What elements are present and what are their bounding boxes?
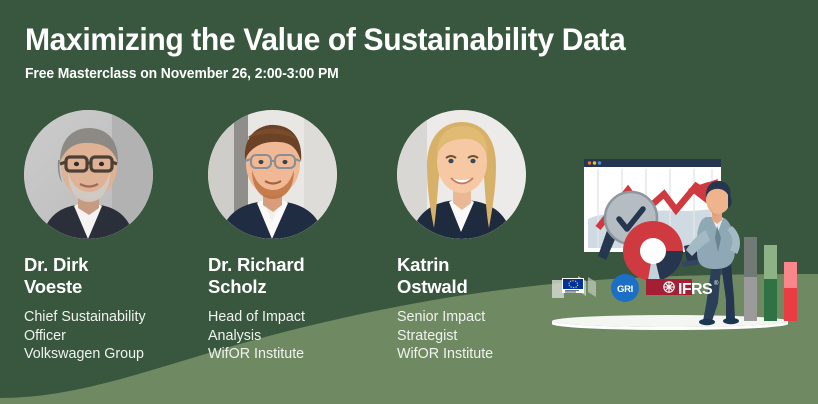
speaker-name: Katrin Ostwald: [397, 254, 547, 298]
speaker-name-line2: Scholz: [208, 276, 358, 298]
speaker-role-line1: Head of Impact: [208, 308, 373, 327]
page-subtitle: Free Masterclass on November 26, 2:00-3:…: [25, 66, 339, 82]
avatar: [24, 110, 153, 239]
eu-commission-logo: [552, 274, 606, 302]
speaker-role-line1: Chief Sustainability: [24, 308, 189, 327]
speaker-role-line3: WifOR Institute: [208, 345, 373, 364]
bar-chart-three-bars: [744, 237, 797, 321]
speaker-role-line2: Officer: [24, 327, 189, 346]
speaker-role: Senior Impact Strategist WifOR Institute: [397, 308, 562, 365]
ifrs-logo: IFRS ®: [646, 274, 720, 299]
data-analytics-illustration: [540, 140, 818, 340]
avatar: [208, 110, 337, 239]
svg-text:IFRS: IFRS: [678, 281, 713, 298]
speaker-role-line2: Strategist: [397, 327, 562, 346]
gri-logo: GRI: [611, 274, 639, 302]
speaker-name: Dr. Dirk Voeste: [24, 254, 174, 298]
svg-text:®: ®: [714, 280, 719, 287]
speaker-role-line3: Volkswagen Group: [24, 345, 189, 364]
speaker-role: Head of Impact Analysis WifOR Institute: [208, 308, 373, 365]
speaker-card-1: Dr. Dirk Voeste Chief Sustainability Off…: [24, 110, 189, 364]
speaker-name-line1: Dr. Richard: [208, 254, 358, 276]
speaker-card-2: Dr. Richard Scholz Head of Impact Analys…: [208, 110, 373, 364]
avatar: [397, 110, 526, 239]
speaker-role: Chief Sustainability Officer Volkswagen …: [24, 308, 189, 365]
speaker-card-3: Katrin Ostwald Senior Impact Strategist …: [397, 110, 562, 364]
speaker-name-line2: Voeste: [24, 276, 174, 298]
page-title: Maximizing the Value of Sustainability D…: [25, 22, 760, 57]
speaker-name-line2: Ostwald: [397, 276, 547, 298]
speaker-name: Dr. Richard Scholz: [208, 254, 358, 298]
speaker-name-line1: Dr. Dirk: [24, 254, 174, 276]
svg-text:GRI: GRI: [617, 284, 633, 295]
speaker-name-line1: Katrin: [397, 254, 547, 276]
speaker-role-line3: WifOR Institute: [397, 345, 562, 364]
donut-chart: [623, 221, 683, 281]
webinar-banner: Maximizing the Value of Sustainability D…: [0, 0, 818, 404]
speaker-role-line1: Senior Impact: [397, 308, 562, 327]
speaker-role-line2: Analysis: [208, 327, 373, 346]
